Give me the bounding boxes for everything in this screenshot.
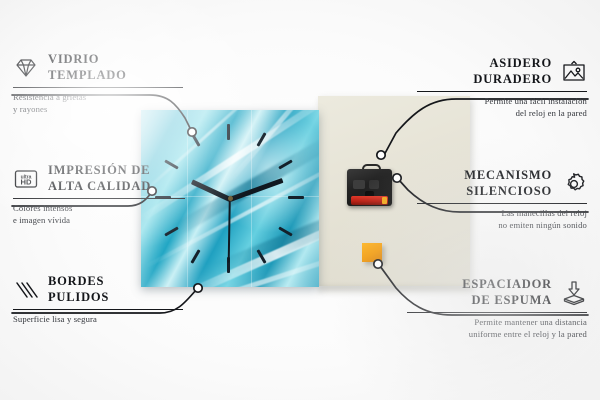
feature-rule <box>13 198 185 200</box>
ultra-hd-icon: ultra HD <box>13 166 39 192</box>
feature-description: Permite mantener una distancia uniforme … <box>407 317 587 341</box>
feature-vidrio-templado: VIDRIO TEMPLADO Resistencia a grietas y … <box>13 52 183 116</box>
foam-spacer <box>362 243 382 262</box>
feature-rule <box>417 91 587 93</box>
infographic-canvas: VIDRIO TEMPLADO Resistencia a grietas y … <box>0 0 600 400</box>
feature-asidero-duradero: ASIDERO DURADERO Permite una fácil insta… <box>417 56 587 120</box>
gear-icon <box>561 171 587 197</box>
clock-center-hub <box>228 196 233 201</box>
picture-frame-hanger-icon <box>561 59 587 85</box>
feature-description: Las manecillas del reloj no emiten ningú… <box>417 208 587 232</box>
diamond-icon <box>13 55 39 81</box>
feature-rule <box>13 309 183 311</box>
feature-bordes-pulidos: BORDES PULIDOS Superficie lisa y segura <box>13 274 183 326</box>
clock-mechanism <box>347 164 392 206</box>
feature-title: IMPRESIÓN DE ALTA CALIDAD <box>48 163 151 195</box>
feature-rule <box>417 203 587 205</box>
feature-title: VIDRIO TEMPLADO <box>48 52 127 84</box>
feature-impresion-alta-calidad: ultra HD IMPRESIÓN DE ALTA CALIDAD Color… <box>13 163 185 227</box>
svg-text:HD: HD <box>21 177 32 186</box>
feature-description: Superficie lisa y segura <box>13 314 183 326</box>
clock-tick <box>288 196 304 199</box>
feature-description: Permite una fácil instalación del reloj … <box>417 96 587 120</box>
mechanism-knob <box>353 180 365 189</box>
feature-rule <box>13 87 183 89</box>
battery-terminal <box>382 197 387 204</box>
feature-title: BORDES PULIDOS <box>48 274 109 306</box>
polished-edges-icon <box>13 277 39 303</box>
mechanism-knob <box>369 180 379 189</box>
feature-espaciador-de-espuma: ESPACIADOR DE ESPUMA Permite mantener un… <box>407 277 587 341</box>
foam-spacer-arrow-icon <box>561 280 587 306</box>
battery <box>351 196 388 205</box>
feature-description: Resistencia a grietas y rayones <box>13 92 183 116</box>
feature-title: ASIDERO DURADERO <box>473 56 552 88</box>
feature-rule <box>407 312 587 314</box>
feature-title: MECANISMO SILENCIOSO <box>464 168 552 200</box>
feature-title: ESPACIADOR DE ESPUMA <box>462 277 552 309</box>
clock-tick <box>227 124 230 140</box>
feature-mecanismo-silencioso: MECANISMO SILENCIOSO Las manecillas del … <box>417 168 587 232</box>
feature-description: Colores intensos e imagen vívida <box>13 203 185 227</box>
mechanism-body <box>347 169 392 206</box>
